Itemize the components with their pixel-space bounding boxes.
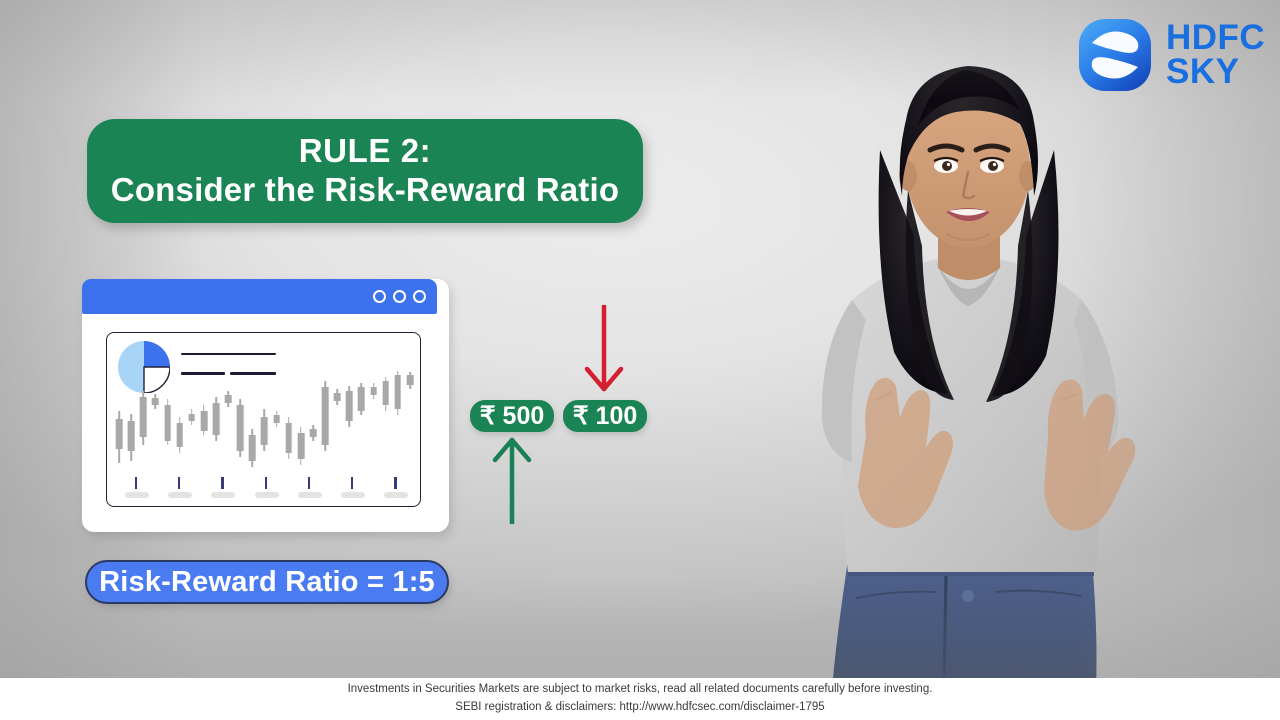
candlestick-body [322, 387, 329, 445]
candlestick-body [188, 414, 195, 421]
logo-line-hdfc: HDFC [1166, 21, 1265, 55]
candlestick [295, 371, 307, 471]
rule-banner-subtitle: Consider the Risk-Reward Ratio [111, 170, 619, 210]
candlestick [307, 371, 319, 471]
candlestick [283, 371, 295, 471]
candlestick [404, 371, 416, 471]
candlestick-body [346, 391, 353, 421]
candlestick [222, 371, 234, 471]
candlestick [392, 371, 404, 471]
candlestick-body [394, 375, 401, 409]
disclaimer-line-2: SEBI registration & disclaimers: http://… [455, 700, 824, 716]
candlestick-body [237, 405, 244, 451]
candlestick-body [358, 387, 365, 411]
candlestick-body [176, 423, 183, 447]
candlestick [234, 371, 246, 471]
window-dot-2-icon [393, 290, 406, 303]
axis-tick [178, 477, 180, 489]
axis-tick-label [298, 492, 322, 498]
axis-tick [265, 477, 267, 489]
window-dot-1-icon [373, 290, 386, 303]
candlestick-body [225, 395, 232, 403]
candlestick-body [370, 387, 377, 395]
candlestick [258, 371, 270, 471]
candlestick-body [310, 429, 317, 437]
axis-tick [308, 477, 310, 489]
video-frame: HDFC SKY RULE 2: Consider the Risk-Rewar… [0, 0, 1280, 720]
candlestick-body [273, 415, 280, 423]
candlestick-body [298, 433, 305, 459]
chart-x-axis [113, 477, 416, 501]
candlestick-chart [113, 371, 416, 471]
axis-tick-label [384, 492, 408, 498]
window-dot-3-icon [413, 290, 426, 303]
axis-tick [135, 477, 137, 489]
arrow-down-icon [581, 305, 627, 397]
candlestick-body [382, 381, 389, 405]
candlestick-body [261, 417, 268, 445]
hdfc-sky-logo: HDFC SKY [1078, 18, 1265, 92]
reward-amount-badge: ₹ 500 [470, 400, 554, 432]
candlestick-body [152, 398, 159, 405]
candlestick [271, 371, 283, 471]
candlestick-body [285, 423, 292, 453]
risk-reward-ratio-badge: Risk-Reward Ratio = 1:5 [85, 560, 449, 604]
rule-banner: RULE 2: Consider the Risk-Reward Ratio [87, 119, 643, 223]
candlestick-body [407, 375, 414, 385]
presenter-person [796, 0, 1280, 690]
candlestick-body [334, 393, 341, 401]
browser-window-illustration [82, 279, 449, 532]
browser-titlebar [82, 279, 437, 314]
arrow-up-icon [489, 432, 535, 524]
candlestick [186, 371, 198, 471]
candlestick [331, 371, 343, 471]
candlestick [368, 371, 380, 471]
hdfc-sky-swoosh-icon [1078, 18, 1152, 92]
candlestick [113, 371, 125, 471]
candlestick-body [164, 405, 171, 441]
candlestick [380, 371, 392, 471]
axis-tick-label [341, 492, 365, 498]
candlestick-body [249, 435, 256, 461]
axis-tick-label [211, 492, 235, 498]
axis-tick-label [125, 492, 149, 498]
candlestick [174, 371, 186, 471]
disclaimer-line-1: Investments in Securities Markets are su… [348, 682, 933, 698]
axis-tick-label [168, 492, 192, 498]
candlestick [137, 371, 149, 471]
candlestick-body [128, 421, 135, 451]
chart-frame [106, 332, 421, 507]
candlestick-body [213, 403, 220, 435]
axis-tick [351, 477, 353, 489]
axis-tick [221, 477, 223, 489]
candlestick [246, 371, 258, 471]
candlestick [319, 371, 331, 471]
disclaimer-bar: Investments in Securities Markets are su… [0, 678, 1280, 720]
candlestick-body [116, 419, 123, 449]
candlestick [161, 371, 173, 471]
logo-wordmark: HDFC SKY [1166, 21, 1265, 90]
candlestick [125, 371, 137, 471]
risk-amount-badge: ₹ 100 [563, 400, 647, 432]
candlestick [149, 371, 161, 471]
axis-tick-label [255, 492, 279, 498]
placeholder-line-1 [181, 353, 276, 355]
candlestick [198, 371, 210, 471]
candlestick [355, 371, 367, 471]
candlestick-body [201, 411, 208, 431]
candlestick [210, 371, 222, 471]
rule-banner-title: RULE 2: [299, 132, 432, 170]
logo-line-sky: SKY [1166, 55, 1265, 89]
candlestick [343, 371, 355, 471]
candlestick-body [140, 397, 147, 437]
axis-tick [394, 477, 396, 489]
